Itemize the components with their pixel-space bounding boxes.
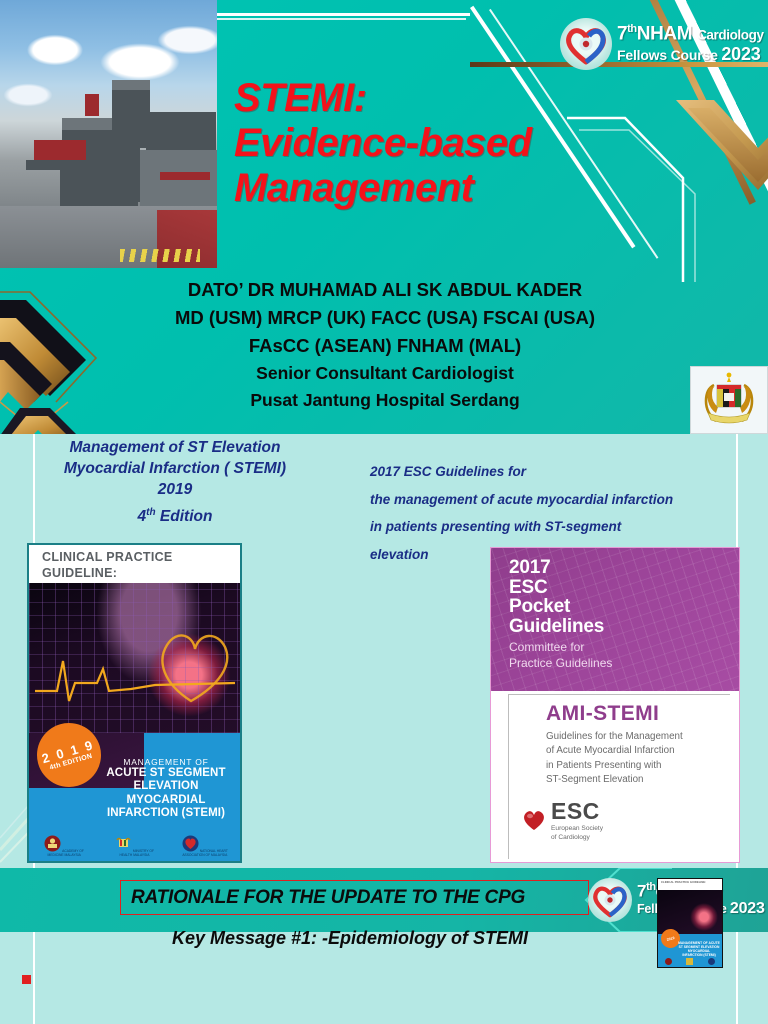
esc-ami-sub-line-3: in Patients Presenting with — [546, 759, 731, 773]
esc-cover-line-3: Pocket — [509, 597, 604, 617]
esc-ami-sub-line-4: ST-Segment Elevation — [546, 773, 731, 787]
cpg-heading-line-2: Myocardial Infarction ( STEMI) — [10, 459, 340, 480]
logo-cardiology: Cardiology — [697, 28, 764, 43]
cpg-cover-heart-illustration — [29, 583, 240, 733]
key-message-text: Key Message #1: -Epidemiology of STEMI — [0, 928, 700, 949]
cpg-cover-title: MANAGEMENT OF ACUTE ST SEGMENT ELEVATION… — [98, 757, 234, 820]
esc-ami-sub-line-1: Guidelines for the Management — [546, 730, 731, 744]
esc-cover-title: 2017 ESC Pocket Guidelines — [509, 558, 604, 636]
thumbnail-emblem-2 — [686, 958, 693, 965]
cpg-cover-title-small: MANAGEMENT OF — [98, 757, 234, 767]
cpg-heading-line-3: 2019 — [10, 480, 340, 501]
cpg-org-1: ACADEMY OF MEDICINE MALAYSIA — [38, 835, 90, 857]
esc-heart-icon — [521, 808, 547, 832]
cpg-heading-line-1: Management of ST Elevation — [10, 438, 340, 459]
esc-heading-line-2: the management of acute myocardial infar… — [370, 486, 768, 514]
thumbnail-header: CLINICAL PRACTICE GUIDELINE: — [658, 879, 722, 890]
esc-heading-line-3: in patients presenting with ST-segment — [370, 513, 768, 541]
cpg-heading: Management of ST Elevation Myocardial In… — [10, 438, 340, 501]
title-panel: STEMI: Evidence-based Management 7thNHAM… — [0, 0, 768, 434]
logo-org: NHAM — [637, 24, 692, 45]
cpg-book-cover: CLINICAL PRACTICE GUIDELINE: 2 0 1 9 4th… — [27, 543, 242, 863]
logo-year: 2023 — [730, 900, 765, 917]
cpg-edition-sup: th — [146, 507, 155, 518]
decor-gold-chevron-right — [666, 100, 768, 210]
logo-year: 2023 — [721, 44, 760, 64]
cpg-cover-header-line-1: CLINICAL PRACTICE — [42, 550, 240, 566]
cpg-cover-org-logos: ACADEMY OF MEDICINE MALAYSIA MINISTRY OF… — [29, 835, 240, 857]
thumbnail-emblem-1 — [665, 958, 672, 965]
malaysia-coat-of-arms — [690, 366, 768, 434]
logo-ordinal: 7 — [617, 24, 627, 45]
esc-committee-line-2: Practice Guidelines — [509, 656, 612, 672]
presenter-qualifications-1: MD (USM) MRCP (UK) FACC (USA) FSCAI (USA… — [120, 304, 650, 332]
presenter-role: Senior Consultant Cardiologist — [120, 360, 650, 387]
cpg-edition-number: 4 — [138, 508, 147, 525]
esc-pocket-guidelines-cover: 2017 ESC Pocket Guidelines Committee for… — [490, 547, 740, 863]
presenter-name: DATO’ DR MUHAMAD ALI SK ABDUL KADER — [120, 276, 650, 304]
esc-cover-line-4: Guidelines — [509, 617, 604, 637]
heart-logo-icon — [588, 878, 632, 922]
esc-logo-sub-2: of Cardiology — [551, 834, 603, 843]
presenter-institution: Pusat Jantung Hospital Serdang — [120, 387, 650, 414]
esc-society-logo: ESC European Society of Cardiology — [521, 798, 603, 842]
cpg-edition: 4th Edition — [10, 507, 340, 526]
esc-logo-sub-1: European Society — [551, 825, 603, 834]
presenter-block: DATO’ DR MUHAMAD ALI SK ABDUL KADER MD (… — [120, 276, 650, 414]
bullet-marker — [22, 975, 31, 984]
esc-logo-name: ESC — [551, 798, 603, 825]
cpg-cover-thumbnail: CLINICAL PRACTICE GUIDELINE: 2019 MANAGE… — [657, 878, 723, 968]
cpg-cover-header: CLINICAL PRACTICE GUIDELINE: — [29, 545, 240, 583]
cpg-cover-title-line-3: INFARCTION (STEMI) — [98, 807, 234, 820]
page-title: STEMI: Evidence-based Management — [234, 76, 654, 210]
esc-committee-line-1: Committee for — [509, 640, 612, 656]
logo-ordinal-sup: th — [627, 23, 637, 35]
conference-logo-text: 7thNHAM Cardiology Fellows Course 2023 — [617, 24, 764, 63]
rationale-banner-text: RATIONALE FOR THE UPDATE TO THE CPG — [131, 887, 525, 909]
hospital-building-photo — [0, 0, 217, 268]
logo-ordinal: 7 — [637, 882, 646, 901]
cpg-edition-label: Edition — [160, 508, 213, 525]
esc-ami-sub-line-2: of Acute Myocardial Infarction — [546, 744, 731, 758]
conference-logo: 7thNHAM Cardiology Fellows Course 2023 — [560, 18, 764, 70]
title-line-3: Management — [234, 166, 654, 211]
cpg-org-2: MINISTRY OF HEALTH MALAYSIA — [108, 835, 160, 857]
esc-ami-stemi-title: AMI-STEMI — [546, 702, 659, 726]
esc-cover-committee: Committee for Practice Guidelines — [509, 640, 612, 671]
logo-course: Fellows Course — [617, 47, 718, 63]
rationale-banner: RATIONALE FOR THE UPDATE TO THE CPG — [120, 880, 589, 915]
logo-ordinal-sup: th — [646, 881, 656, 893]
decor-vline-bottom-left — [33, 932, 35, 1024]
decor-vline-bottom-right — [736, 932, 738, 1024]
cpg-cover-title-line-1: ACUTE ST SEGMENT — [98, 767, 234, 780]
title-line-1: STEMI: — [234, 76, 654, 121]
cpg-cover-header-line-2: GUIDELINE: — [42, 566, 240, 582]
esc-ami-subtitle: Guidelines for the Management of Acute M… — [546, 730, 731, 788]
esc-cover-year: 2017 — [509, 558, 604, 578]
thumbnail-org-logos — [658, 958, 722, 965]
heart-logo-icon — [560, 18, 612, 70]
title-line-2: Evidence-based — [234, 121, 654, 166]
cpg-org-3: NATIONAL HEART ASSOCIATION OF MALAYSIA — [179, 835, 231, 857]
slide-canvas: STEMI: Evidence-based Management 7thNHAM… — [0, 0, 768, 1024]
presenter-qualifications-2: FAsCC (ASEAN) FNHAM (MAL) — [120, 332, 650, 360]
esc-cover-org: ESC — [509, 578, 604, 598]
cpg-cover-title-line-2: ELEVATION MYOCARDIAL — [98, 780, 234, 807]
thumbnail-emblem-3 — [708, 958, 715, 965]
esc-heading-line-1: 2017 ESC Guidelines for — [370, 458, 768, 486]
